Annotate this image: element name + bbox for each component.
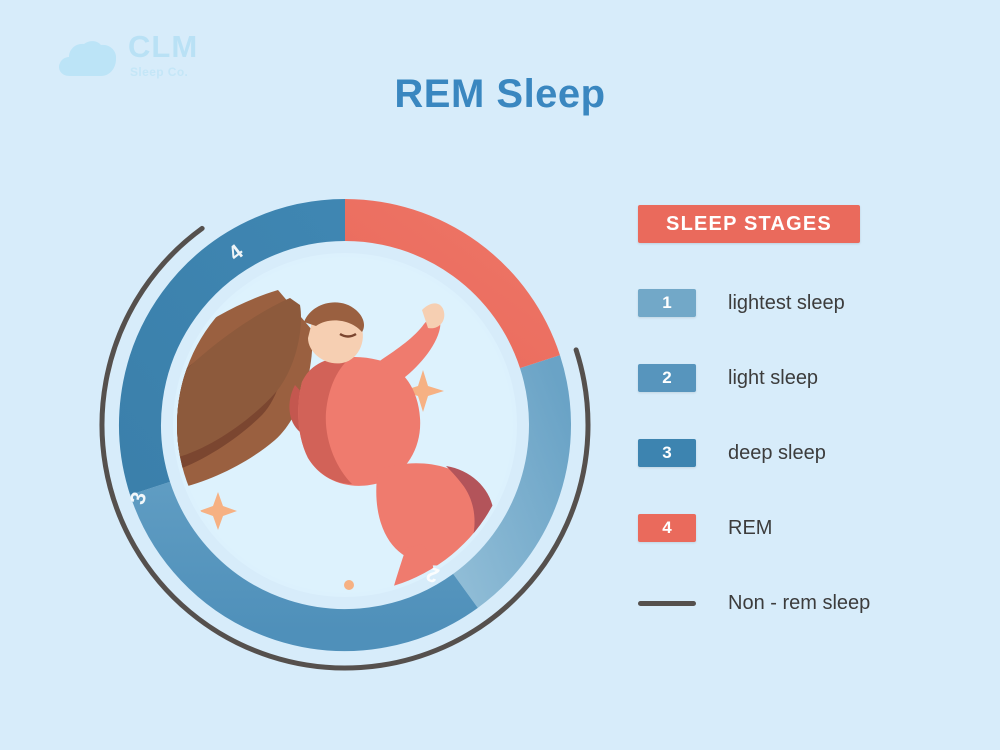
legend-label-3: deep sleep [728,442,826,465]
legend-row-1[interactable]: 1 lightest sleep [638,288,958,318]
page-title: REM Sleep [0,72,1000,117]
legend-row-2[interactable]: 2 light sleep [638,363,958,393]
legend-row-4[interactable]: 4 REM [638,513,958,543]
legend-swatch-4: 4 [638,514,696,542]
legend-row-3[interactable]: 3 deep sleep [638,438,958,468]
legend-label-4: REM [728,517,772,540]
legend-swatch-2: 2 [638,364,696,392]
legend-heading: SLEEP STAGES [638,205,860,243]
brand-name: CLM [128,30,198,64]
infographic-canvas: CLM Sleep Co. REM Sleep [0,0,1000,750]
sleep-stages-donut-chart: 1 2 3 4 [90,170,600,680]
non-rem-line-swatch [638,601,696,606]
legend-swatch-3: 3 [638,439,696,467]
legend-label-1: lightest sleep [728,292,845,315]
legend-row-non-rem[interactable]: Non - rem sleep [638,588,958,618]
legend-panel: SLEEP STAGES 1 lightest sleep 2 light sl… [638,205,958,618]
legend-swatch-1: 1 [638,289,696,317]
legend-label-non-rem: Non - rem sleep [728,592,870,615]
legend-label-2: light sleep [728,367,818,390]
